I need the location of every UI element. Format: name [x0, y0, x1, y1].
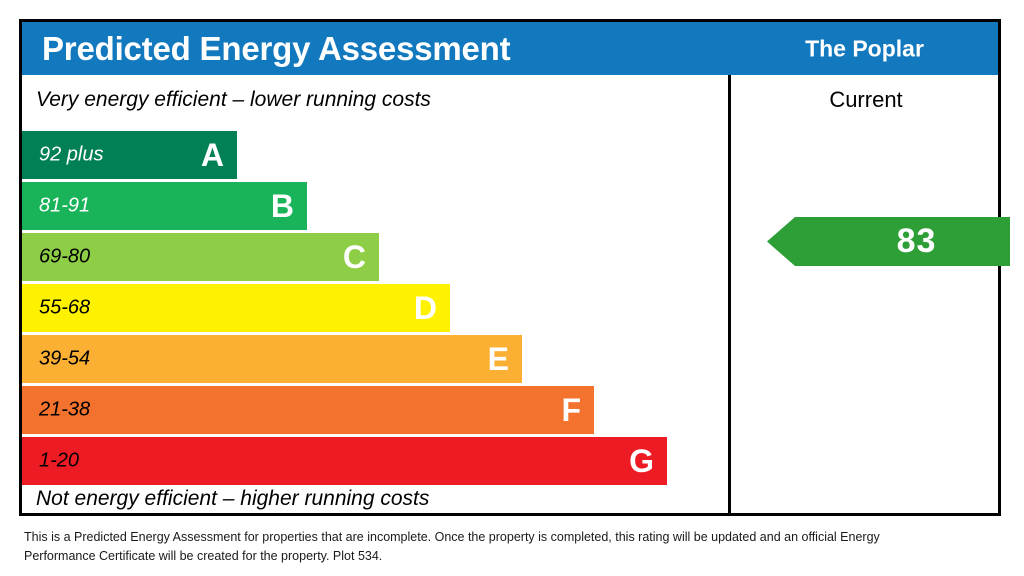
- energy-band-range-d: 55-68: [39, 297, 90, 320]
- current-rating-column: Current 83: [731, 75, 1001, 513]
- energy-band-letter-a: A: [201, 139, 224, 171]
- energy-band-list: 92 plusA81-91B69-80C55-68D39-54E21-38F1-…: [22, 131, 728, 487]
- energy-band-letter-e: E: [488, 343, 509, 375]
- current-rating-arrow: 83: [767, 217, 1010, 266]
- energy-band-bar-e: 39-54E: [22, 335, 522, 383]
- energy-band-bar-f: 21-38F: [22, 386, 594, 434]
- energy-band-row-c: 69-80C: [22, 233, 379, 281]
- energy-band-range-b: 81-91: [39, 195, 90, 218]
- page-title: Predicted Energy Assessment: [42, 30, 510, 68]
- energy-band-range-c: 69-80: [39, 246, 90, 269]
- certificate-frame: Predicted Energy Assessment The Poplar V…: [19, 19, 1001, 516]
- energy-band-row-a: 92 plusA: [22, 131, 237, 179]
- scale-caption-top: Very energy efficient – lower running co…: [36, 88, 431, 112]
- energy-band-row-g: 1-20G: [22, 437, 667, 485]
- current-rating-value: 83: [767, 217, 1010, 266]
- efficiency-scale-column: Very energy efficient – lower running co…: [22, 75, 728, 513]
- certificate-body: Very energy efficient – lower running co…: [22, 75, 998, 513]
- energy-band-letter-f: F: [561, 394, 581, 426]
- energy-band-letter-c: C: [343, 241, 366, 273]
- property-name: The Poplar: [731, 35, 998, 62]
- certificate-header: Predicted Energy Assessment The Poplar: [22, 22, 998, 75]
- energy-band-bar-b: 81-91B: [22, 182, 307, 230]
- energy-band-row-b: 81-91B: [22, 182, 307, 230]
- energy-band-range-a: 92 plus: [39, 144, 104, 167]
- energy-band-bar-a: 92 plusA: [22, 131, 237, 179]
- energy-band-letter-g: G: [629, 445, 654, 477]
- energy-band-range-g: 1-20: [39, 450, 79, 473]
- current-column-label: Current: [731, 87, 1001, 113]
- energy-band-letter-d: D: [414, 292, 437, 324]
- footnote-text: This is a Predicted Energy Assessment fo…: [24, 528, 884, 567]
- energy-band-range-e: 39-54: [39, 348, 90, 371]
- energy-band-row-f: 21-38F: [22, 386, 594, 434]
- energy-band-row-d: 55-68D: [22, 284, 450, 332]
- energy-band-range-f: 21-38: [39, 399, 90, 422]
- energy-band-bar-c: 69-80C: [22, 233, 379, 281]
- energy-band-letter-b: B: [271, 190, 294, 222]
- energy-band-row-e: 39-54E: [22, 335, 522, 383]
- scale-caption-bottom: Not energy efficient – higher running co…: [36, 487, 429, 511]
- epc-certificate: Predicted Energy Assessment The Poplar V…: [0, 0, 1024, 576]
- energy-band-bar-d: 55-68D: [22, 284, 450, 332]
- energy-band-bar-g: 1-20G: [22, 437, 667, 485]
